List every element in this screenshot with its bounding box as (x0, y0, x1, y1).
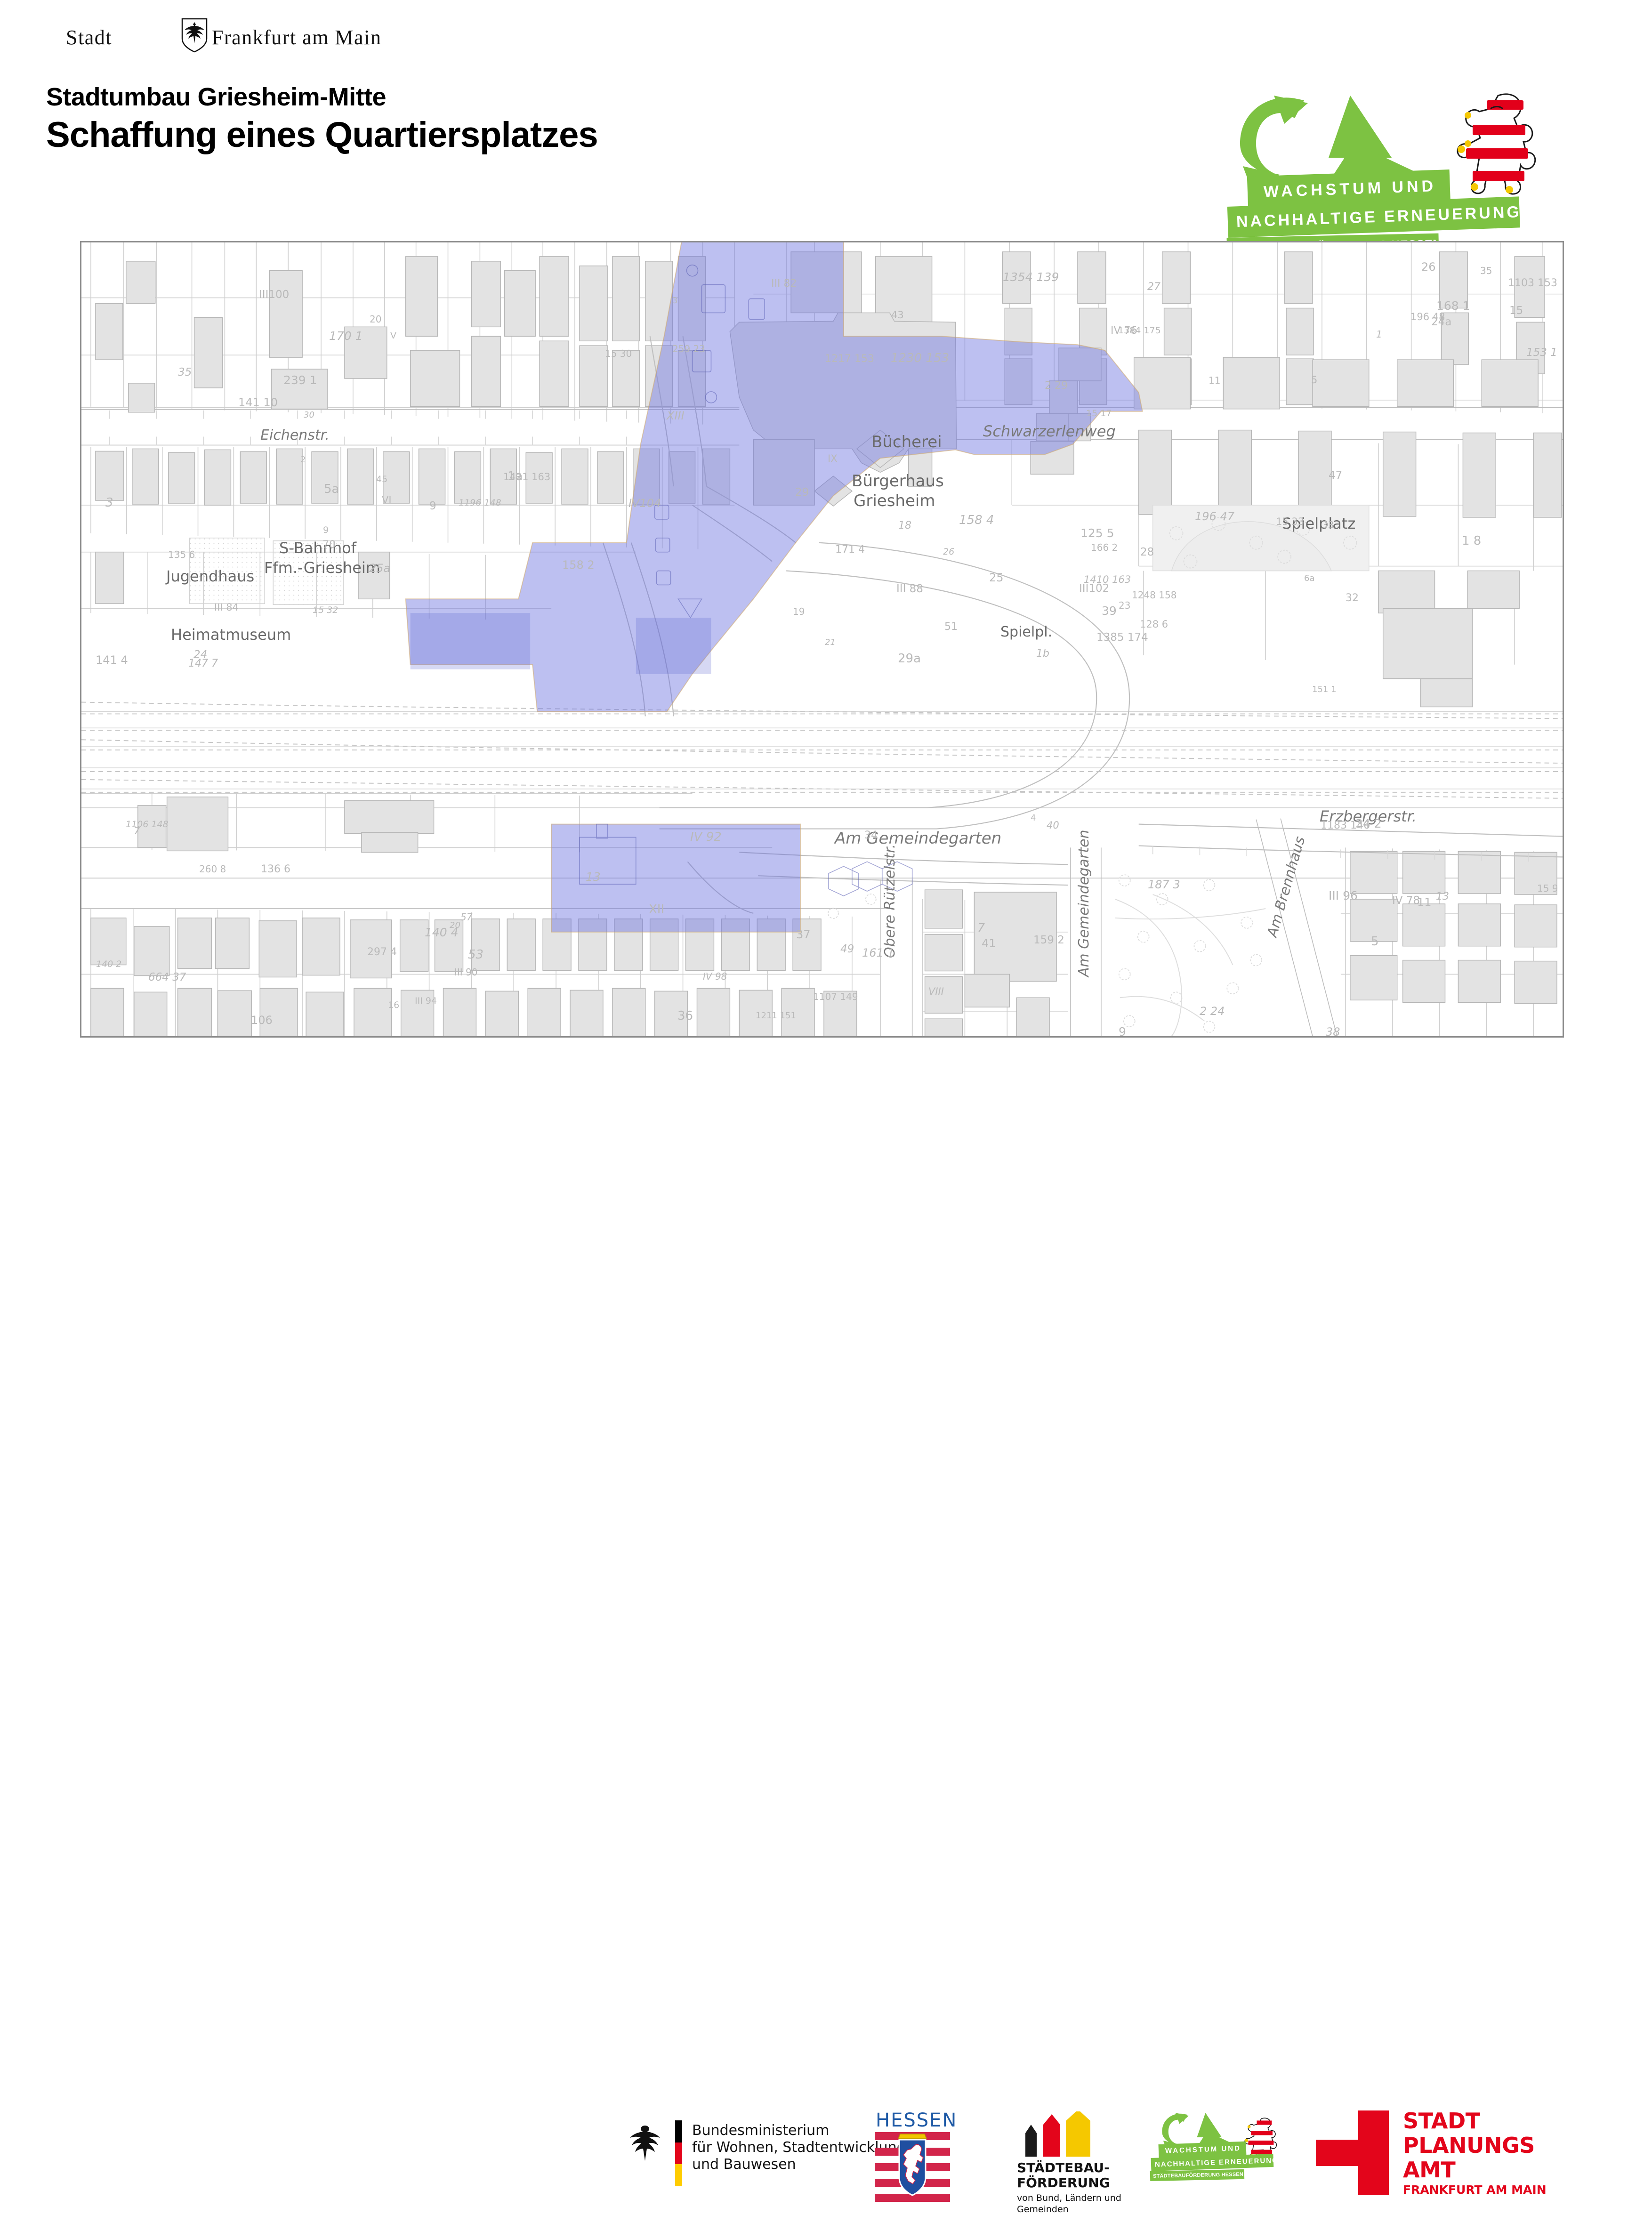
bm-line-3: und Bauwesen (692, 2156, 906, 2173)
spa-line-3: AMT (1403, 2158, 1535, 2182)
staedtebau-label: STÄDTEBAU- FÖRDERUNG (1017, 2160, 1110, 2191)
bm-line-1: Bundesministerium (692, 2122, 906, 2139)
hessen-wordmark: HESSEN (876, 2110, 957, 2131)
page-title: Schaffung eines Quartiersplatzes (46, 114, 598, 155)
wne-small-band-3: STÄDTEBAUFÖRDERUNG HESSEN (1150, 2169, 1244, 2181)
stadtplanungsamt-mark-icon (1316, 2110, 1389, 2195)
stadtplanungsamt-logo: STADT PLANUNGS AMT FRANKFURT AM MAIN (1316, 2107, 1561, 2201)
spa-line-1: STADT (1403, 2109, 1535, 2133)
page-subtitle: Stadtumbau Griesheim-Mitte (46, 82, 386, 112)
staedtebau-sub-2: Gemeinden (1017, 2204, 1121, 2215)
stadtplanungsamt-label: STADT PLANUNGS AMT (1403, 2109, 1535, 2182)
staedtebau-sub-1: von Bund, Ländern und (1017, 2192, 1121, 2204)
staedtebaufoerderung-logo: STÄDTEBAU- FÖRDERUNG von Bund, Ländern u… (1012, 2111, 1139, 2201)
cadastral-map[interactable]: Bücherei Bürgerhaus Griesheim S-Bahnhof … (80, 241, 1564, 1038)
city-logo-text-frankfurt: Frankfurt am Main (212, 25, 381, 49)
staedtebau-line-1: STÄDTEBAU- (1017, 2160, 1110, 2175)
staedtebau-line-2: FÖRDERUNG (1017, 2175, 1110, 2191)
bundesministerium-label: Bundesministerium für Wohnen, Stadtentwi… (692, 2122, 906, 2173)
bm-line-2: für Wohnen, Stadtentwicklung (692, 2139, 906, 2156)
hessen-lion-icon (1447, 87, 1541, 202)
funding-logo-strip: Bundesministerium für Wohnen, Stadtentwi… (0, 1047, 1652, 1168)
wachstum-nachhaltige-erneuerung-logo-small: WACHSTUM UND NACHHALTIGE ERNEUERUNG STÄD… (1156, 2110, 1302, 2202)
staedtebau-sublabel: von Bund, Ländern und Gemeinden (1017, 2192, 1121, 2215)
hessen-logo: HESSEN (875, 2110, 959, 2200)
hessen-flag-icon (875, 2132, 950, 2202)
city-logo-text-stadt: Stadt (66, 25, 112, 49)
bundesadler-icon (626, 2122, 664, 2166)
stadt-frankfurt-logo: Stadt Frankfurt am Main (66, 23, 367, 54)
page-header: Stadt Frankfurt am Main Stadtumbau Gries… (0, 0, 1652, 235)
spa-line-2: PLANUNGS (1403, 2133, 1535, 2158)
map-drawing (81, 242, 1563, 1036)
german-flag-bar (675, 2120, 682, 2186)
stadtplanungsamt-sublabel: FRANKFURT AM MAIN (1403, 2183, 1547, 2197)
three-houses-icon (1017, 2111, 1102, 2157)
frankfurt-eagle-shield-icon (181, 18, 208, 53)
bundesministerium-logo: Bundesministerium für Wohnen, Stadtentwi… (626, 2114, 862, 2194)
